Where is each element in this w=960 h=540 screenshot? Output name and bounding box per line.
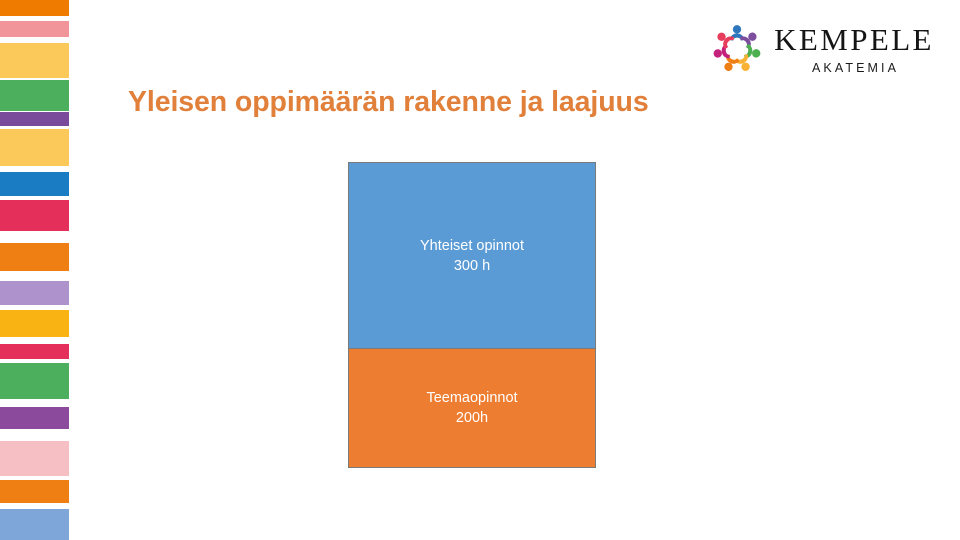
color-band-4	[0, 112, 69, 126]
page-title: Yleisen oppimäärän rakenne ja laajuus	[128, 86, 649, 119]
color-band-9	[0, 281, 69, 305]
logo-title-kempele: KEMPELE	[774, 22, 934, 58]
kempele-akatemia-logo: KEMPELE AKATEMIA	[706, 20, 934, 82]
color-band-6	[0, 172, 69, 196]
segment-value: 200h	[456, 408, 488, 428]
kempele-people-circle-icon	[706, 20, 768, 78]
structure-stacked-bar-chart: Yhteiset opinnot 300 h Teemaopinnot 200h	[348, 162, 596, 468]
color-band-13	[0, 407, 69, 429]
decorative-color-bands	[0, 0, 69, 540]
color-band-14	[0, 441, 69, 476]
segment-label: Teemaopinnot	[426, 388, 517, 408]
color-band-5	[0, 129, 69, 166]
segment-label: Yhteiset opinnot	[420, 236, 524, 256]
chart-segment-yhteiset-opinnot: Yhteiset opinnot 300 h	[348, 162, 596, 349]
color-band-11	[0, 344, 69, 359]
color-band-16	[0, 509, 69, 540]
segment-value: 300 h	[454, 256, 490, 276]
color-band-10	[0, 310, 69, 337]
color-band-15	[0, 480, 69, 503]
logo-subtitle-akatemia: AKATEMIA	[774, 60, 934, 77]
logo-wordmark: KEMPELE AKATEMIA	[774, 22, 934, 77]
color-band-7	[0, 200, 69, 231]
color-band-12	[0, 363, 69, 399]
chart-segment-teemaopinnot: Teemaopinnot 200h	[348, 348, 596, 468]
color-band-3	[0, 80, 69, 111]
color-band-2	[0, 43, 69, 78]
color-band-8	[0, 243, 69, 271]
color-band-1	[0, 21, 69, 37]
color-band-0	[0, 0, 69, 16]
